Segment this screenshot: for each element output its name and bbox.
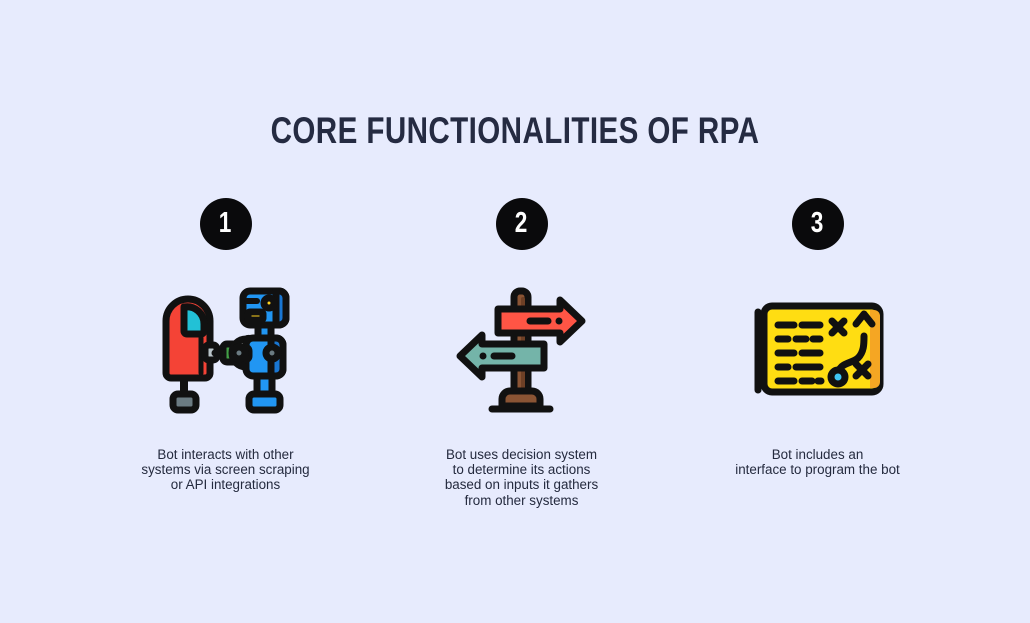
functionality-caption-1: Bot interacts with other systems via scr…: [141, 447, 309, 493]
functionality-item-3: 3: [666, 198, 969, 508]
step-badge-1-number: 1: [219, 209, 232, 238]
step-badge-2-number: 2: [515, 209, 528, 238]
step-badge-1: 1: [200, 198, 252, 250]
functionality-caption-3: Bot includes an interface to program the…: [735, 447, 900, 477]
functionality-item-1: 1: [74, 198, 377, 508]
step-badge-3: 3: [792, 198, 844, 250]
signpost-direction-icon: [452, 276, 592, 426]
page-title: CORE FUNCTIONALITIES OF RPA: [103, 109, 927, 153]
step-badge-2: 2: [496, 198, 548, 250]
functionality-item-2: 2: [370, 198, 673, 508]
functionality-caption-2: Bot uses decision system to determine it…: [445, 447, 598, 508]
step-badge-3-number: 3: [811, 209, 824, 238]
infographic-slide: CORE FUNCTIONALITIES OF RPA 1: [0, 0, 1030, 623]
strategy-board-screen-icon: [748, 276, 888, 426]
functionality-columns: 1: [0, 198, 1030, 508]
two-robots-connector-icon: [151, 276, 301, 426]
